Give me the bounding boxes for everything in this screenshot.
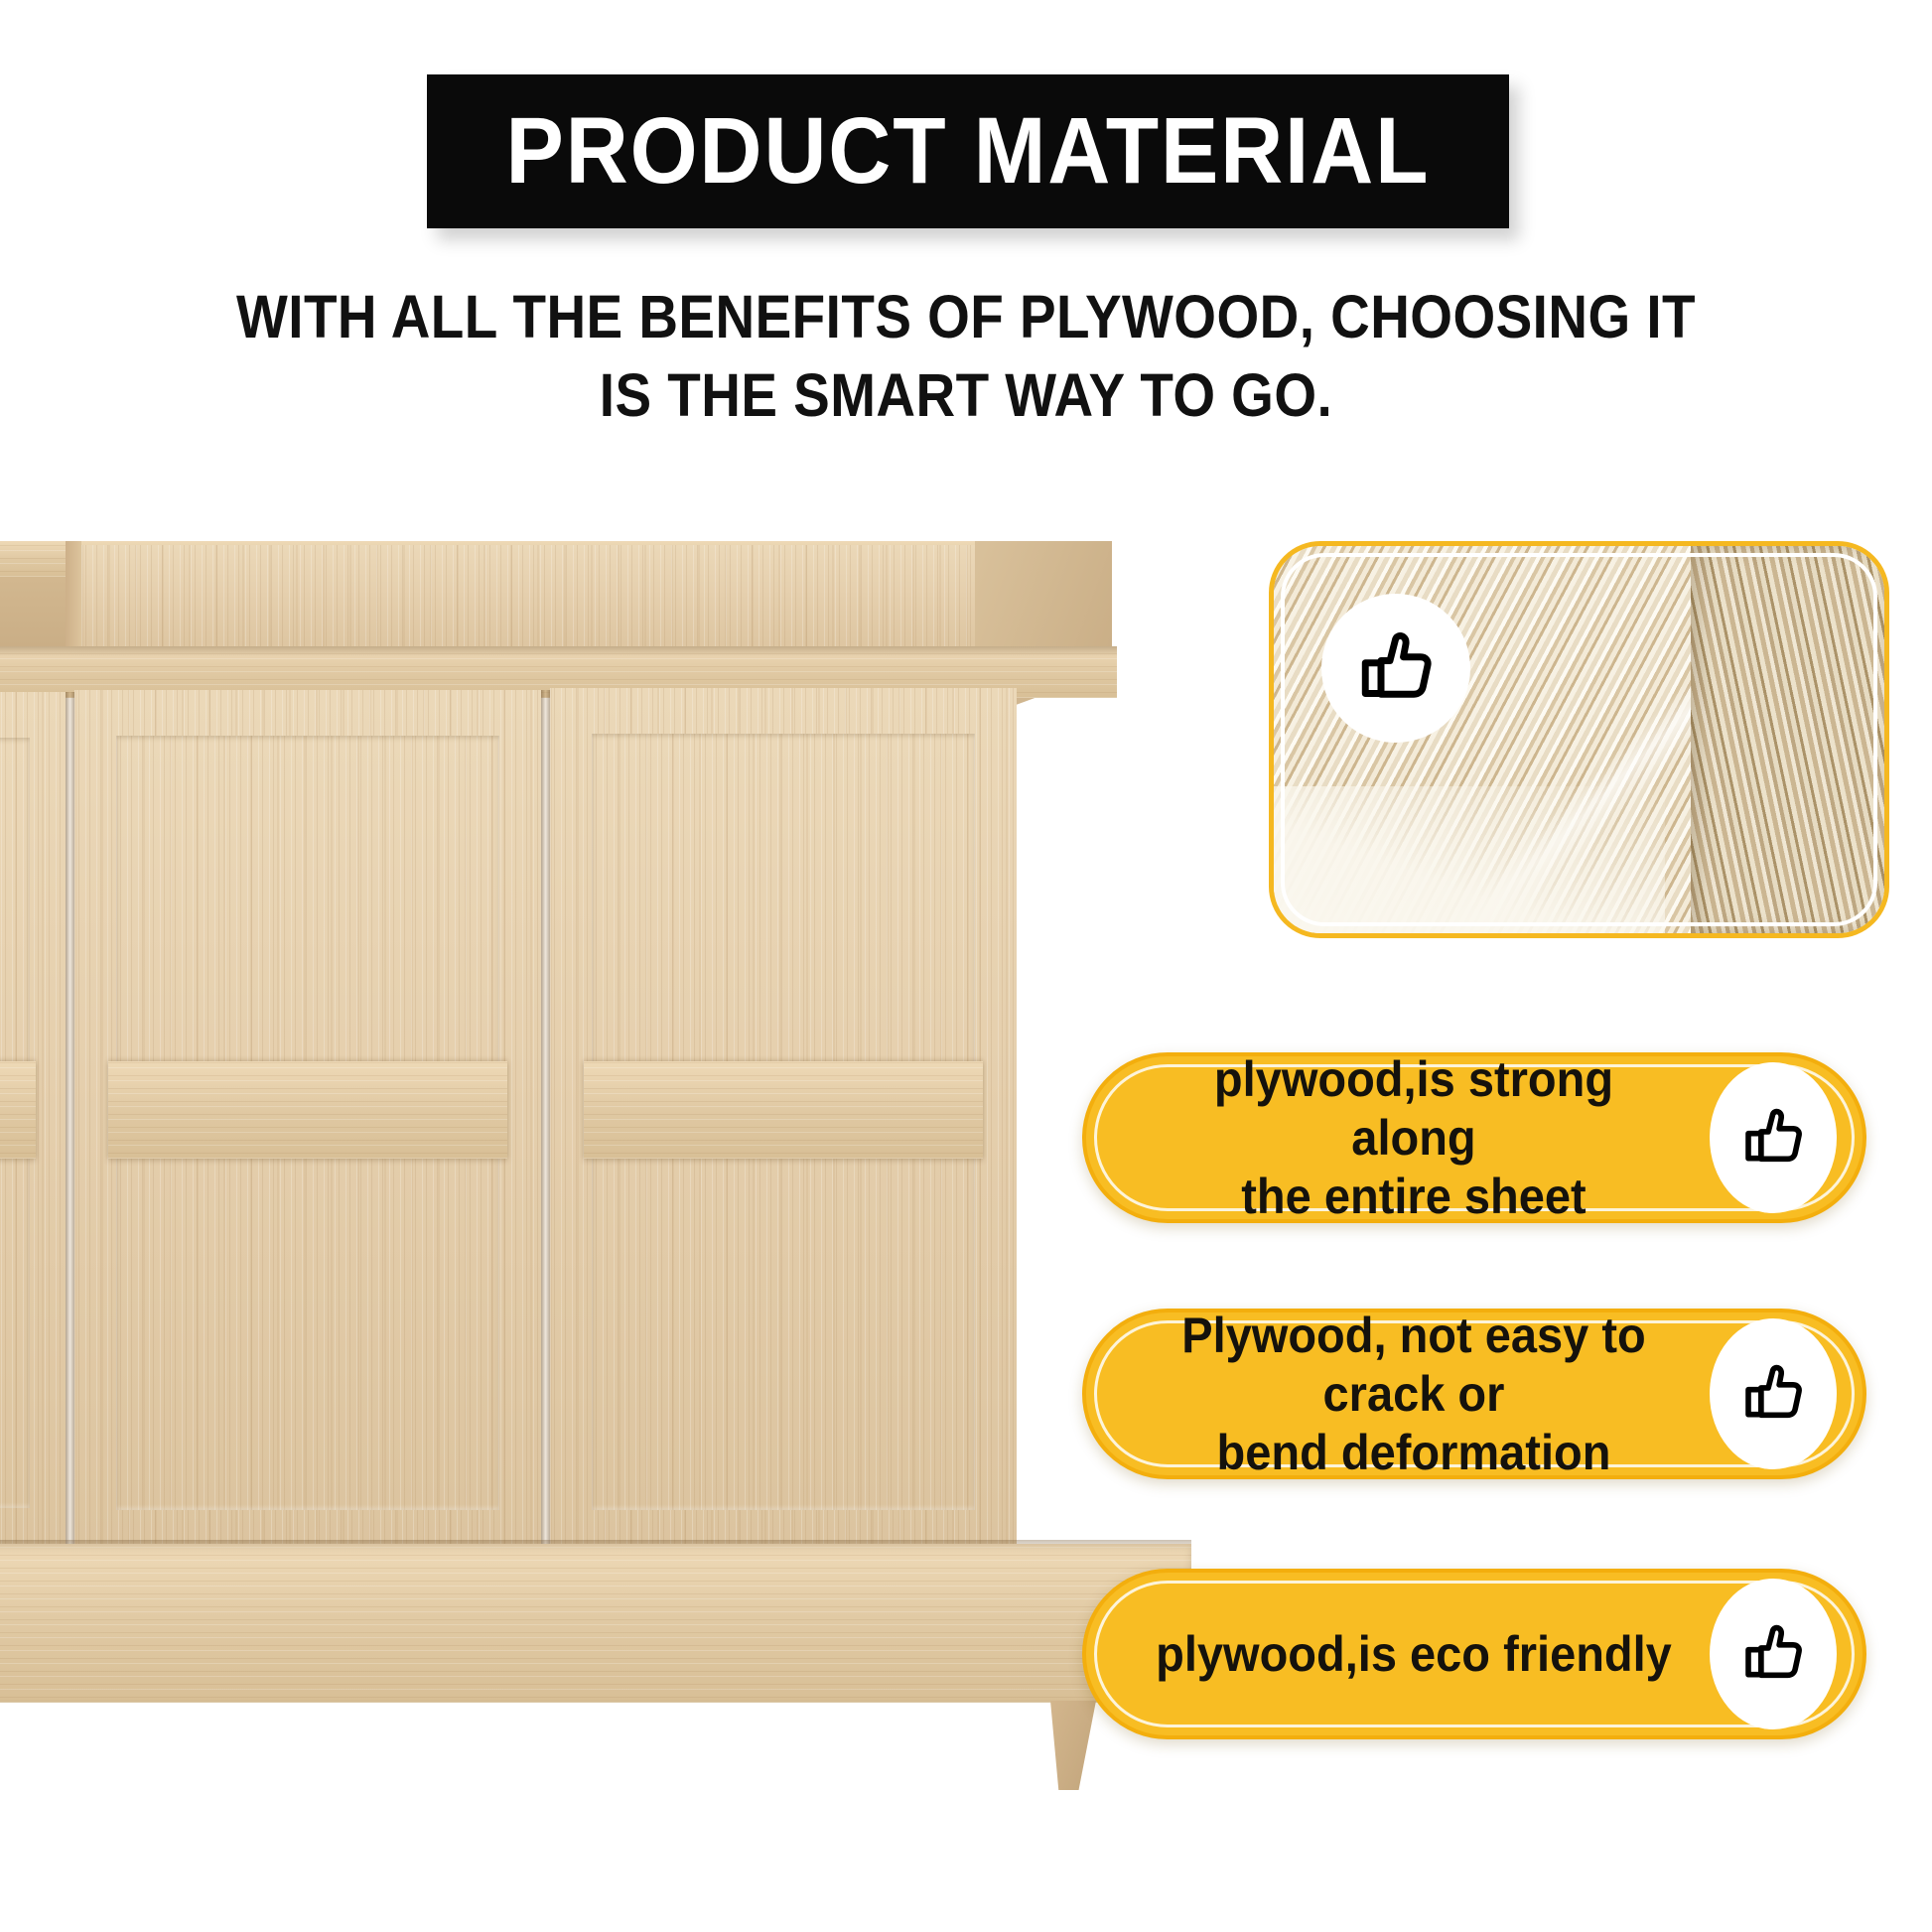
subtitle-line-1: WITH ALL THE BENEFITS OF PLYWOOD, CHOOSI… bbox=[96, 278, 1835, 356]
benefit-badge-1-label: plywood,is strong along the entire sheet bbox=[1105, 1050, 1691, 1226]
door-gap-left bbox=[66, 692, 74, 1548]
thumbs-up-icon bbox=[1321, 594, 1470, 743]
thumbs-up-icon bbox=[1710, 1062, 1837, 1213]
benefit-badge-1[interactable]: plywood,is strong along the entire sheet bbox=[1082, 1052, 1866, 1223]
benefit-badge-3[interactable]: plywood,is eco friendly bbox=[1082, 1569, 1866, 1739]
cabinet-top-rim-shadow bbox=[0, 646, 1117, 656]
cabinet-base-plinth bbox=[0, 1544, 1191, 1703]
page-title: PRODUCT MATERIAL bbox=[506, 104, 1431, 199]
subtitle-line-2: IS THE SMART WAY TO GO. bbox=[96, 356, 1835, 435]
door-rail bbox=[584, 1061, 983, 1159]
benefit-badge-3-label: plywood,is eco friendly bbox=[1105, 1625, 1691, 1684]
thumbs-up-icon bbox=[1710, 1318, 1837, 1469]
cabinet-divider bbox=[66, 541, 81, 655]
benefit-1-line-2: the entire sheet bbox=[1241, 1169, 1586, 1224]
thumbs-up-icon bbox=[1710, 1579, 1837, 1729]
subtitle-block: WITH ALL THE BENEFITS OF PLYWOOD, CHOOSI… bbox=[0, 278, 1932, 436]
door-rail bbox=[108, 1061, 507, 1159]
benefit-badge-2[interactable]: Plywood, not easy to crack or bend defor… bbox=[1082, 1309, 1866, 1479]
page-title-banner: PRODUCT MATERIAL bbox=[427, 74, 1509, 228]
door-gap-center bbox=[541, 690, 550, 1550]
cabinet-door-center bbox=[74, 690, 541, 1550]
benefit-2-line-1: Plywood, not easy to crack or bbox=[1181, 1308, 1645, 1422]
plywood-photo-fade bbox=[1274, 786, 1665, 933]
plywood-detail-card bbox=[1269, 541, 1889, 938]
benefit-3-line-1: plywood,is eco friendly bbox=[1156, 1626, 1672, 1682]
door-rail bbox=[0, 1061, 36, 1159]
cabinet-door-left bbox=[0, 692, 66, 1548]
benefit-1-line-1: plywood,is strong along bbox=[1214, 1051, 1613, 1166]
cabinet-leg bbox=[1050, 1701, 1096, 1790]
infographic-page: PRODUCT MATERIAL WITH ALL THE BENEFITS O… bbox=[0, 0, 1932, 1932]
product-photo-cabinet bbox=[0, 541, 1221, 1767]
benefit-2-line-2: bend deformation bbox=[1217, 1425, 1611, 1480]
benefit-badge-2-label: Plywood, not easy to crack or bend defor… bbox=[1105, 1307, 1691, 1482]
plywood-right-edge-face bbox=[1691, 546, 1884, 933]
cabinet-back-panel bbox=[81, 545, 975, 656]
cabinet-door-right bbox=[550, 688, 1017, 1550]
